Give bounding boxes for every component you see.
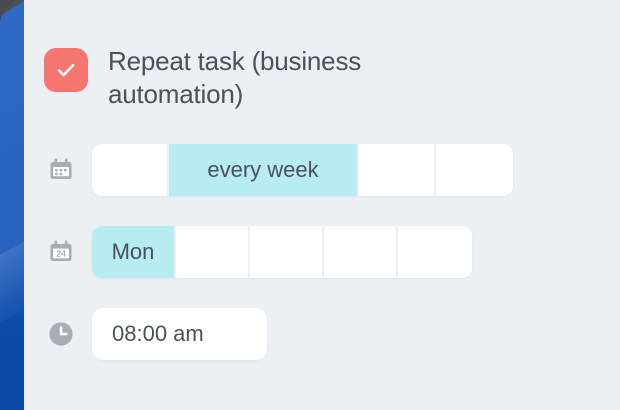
left-accent-strip [0,0,24,410]
calendar-date-24-icon: 24 [44,235,78,269]
frequency-option-1[interactable] [92,144,169,196]
screenshot-root: Repeat task (business automation) [0,0,620,410]
weekday-option-3[interactable] [250,226,324,278]
weekday-option-1[interactable]: Mon [92,226,176,278]
calendar-icon [44,153,78,187]
strip-sheen [0,223,24,332]
weekday-row: 24 Mon [44,226,472,278]
svg-text:24: 24 [56,249,66,259]
clock-icon [44,317,78,351]
time-row: 08:00 am [44,308,267,360]
time-input[interactable]: 08:00 am [92,308,267,360]
recurrence-frequency-row: every week [44,144,513,196]
frequency-segment-group: every week [92,144,513,196]
frequency-option-3[interactable] [359,144,436,196]
weekday-option-2[interactable] [176,226,250,278]
frequency-option-2[interactable]: every week [169,144,359,196]
task-checkbox[interactable] [44,48,88,92]
task-card-panel: Repeat task (business automation) [24,0,620,410]
page-title: Repeat task (business automation) [108,45,438,111]
frequency-option-4[interactable] [436,144,513,196]
weekday-option-5[interactable] [398,226,472,278]
weekday-segment-group: Mon [92,226,472,278]
card-header: Repeat task (business automation) [44,45,514,111]
weekday-option-4[interactable] [324,226,398,278]
check-icon [53,57,79,83]
time-value: 08:00 am [112,321,204,347]
